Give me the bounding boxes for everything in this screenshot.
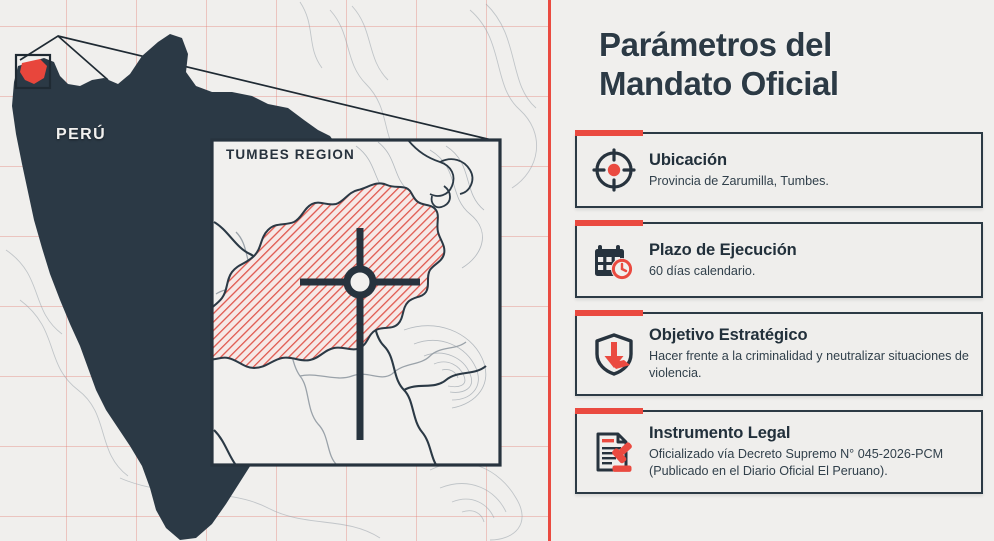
card-body: Instrumento Legal Oficializado vía Decre… xyxy=(641,424,969,479)
card-description: Oficializado vía Decreto Supremo N° 045-… xyxy=(649,446,969,479)
shield-down-arrow-icon xyxy=(587,327,641,381)
page-title-line2: Mandato Oficial xyxy=(599,65,979,104)
crosshair-target-icon xyxy=(587,143,641,197)
card-ubicacion[interactable]: Ubicación Provincia de Zarumilla, Tumbes… xyxy=(575,132,983,208)
card-title: Plazo de Ejecución xyxy=(649,241,797,261)
card-body: Objetivo Estratégico Hacer frente a la c… xyxy=(641,326,969,381)
calendar-clock-icon xyxy=(587,233,641,287)
card-body: Ubicación Provincia de Zarumilla, Tumbes… xyxy=(641,151,829,189)
card-plazo-de-ejecucion[interactable]: Plazo de Ejecución 60 días calendario. xyxy=(575,222,983,298)
document-gavel-icon xyxy=(587,425,641,479)
info-panel: Parámetros del Mandato Oficial xyxy=(551,0,994,541)
map-panel: PERÚ TUMBES REGION xyxy=(0,0,549,541)
map-graphic xyxy=(0,0,549,541)
card-description: Hacer frente a la criminalidad y neutral… xyxy=(649,348,969,381)
page-title: Parámetros del Mandato Oficial xyxy=(599,26,979,103)
card-description: Provincia de Zarumilla, Tumbes. xyxy=(649,173,829,190)
country-label: PERÚ xyxy=(56,126,106,144)
card-instrumento-legal[interactable]: Instrumento Legal Oficializado vía Decre… xyxy=(575,410,983,494)
card-title: Objetivo Estratégico xyxy=(649,326,969,346)
infographic-root: PERÚ TUMBES REGION Parámetros del Mandat… xyxy=(0,0,994,541)
card-objetivo-estrategico[interactable]: Objetivo Estratégico Hacer frente a la c… xyxy=(575,312,983,396)
card-title: Ubicación xyxy=(649,151,829,171)
parameter-card-list: Ubicación Provincia de Zarumilla, Tumbes… xyxy=(575,132,983,508)
card-title: Instrumento Legal xyxy=(649,424,969,444)
card-body: Plazo de Ejecución 60 días calendario. xyxy=(641,241,797,279)
card-description: 60 días calendario. xyxy=(649,263,797,280)
detail-map-content xyxy=(202,140,500,470)
detail-map-title: TUMBES REGION xyxy=(226,147,355,162)
page-title-line1: Parámetros del xyxy=(599,26,832,63)
